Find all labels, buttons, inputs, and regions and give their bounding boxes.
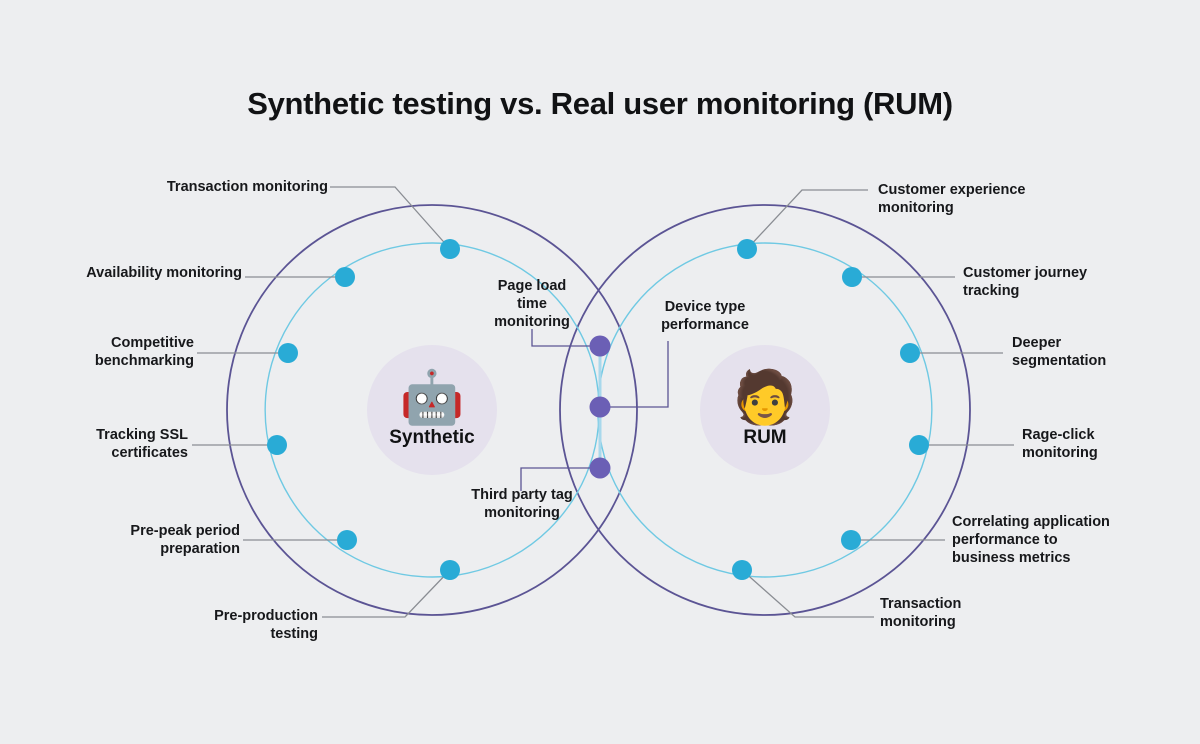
node-third-party-tag-monitoring[interactable] xyxy=(590,458,611,479)
label-deeper-segmentation[interactable]: Deeper segmentation xyxy=(1012,334,1184,370)
node-pre-production-testing[interactable] xyxy=(440,560,460,580)
node-transaction-monitoring[interactable] xyxy=(440,239,460,259)
synthetic-hub: 🤖 Synthetic xyxy=(367,345,497,475)
node-customer-experience-monitoring[interactable] xyxy=(737,239,757,259)
node-transaction-monitoring-rum[interactable] xyxy=(732,560,752,580)
label-device-type-performance[interactable]: Device type performance xyxy=(630,298,780,334)
page-title: Synthetic testing vs. Real user monitori… xyxy=(0,86,1200,122)
person-icon: 🧑 xyxy=(733,371,798,425)
node-deeper-segmentation[interactable] xyxy=(900,343,920,363)
label-page-load-time-monitoring[interactable]: Page load time monitoring xyxy=(462,277,602,331)
connector-transaction-monitoring xyxy=(330,187,450,249)
connector-page-load-time-monitoring xyxy=(532,329,598,346)
synthetic-hub-label: Synthetic xyxy=(389,427,475,449)
label-third-party-tag-monitoring[interactable]: Third party tag monitoring xyxy=(443,486,601,522)
label-transaction-monitoring[interactable]: Transaction monitoring xyxy=(40,178,328,196)
label-transaction-monitoring-rum[interactable]: Transaction monitoring xyxy=(880,595,1106,631)
node-pre-peak-period-preparation[interactable] xyxy=(337,530,357,550)
label-rage-click-monitoring[interactable]: Rage-click monitoring xyxy=(1022,426,1188,462)
node-competitive-benchmarking[interactable] xyxy=(278,343,298,363)
node-customer-journey-tracking[interactable] xyxy=(842,267,862,287)
connector-device-type-performance xyxy=(602,341,668,407)
label-pre-production-testing[interactable]: Pre-production testing xyxy=(20,607,318,643)
infographic-canvas: Synthetic testing vs. Real user monitori… xyxy=(0,0,1200,744)
label-tracking-ssl-certificates[interactable]: Tracking SSL certificates xyxy=(20,426,188,462)
node-page-load-time-monitoring[interactable] xyxy=(590,336,611,357)
rum-hub: 🧑 RUM xyxy=(700,345,830,475)
rum-hub-label: RUM xyxy=(743,427,786,449)
node-availability-monitoring[interactable] xyxy=(335,267,355,287)
label-competitive-benchmarking[interactable]: Competitive benchmarking xyxy=(20,334,194,370)
label-customer-experience-monitoring[interactable]: Customer experience monitoring xyxy=(878,181,1108,217)
label-pre-peak-period-preparation[interactable]: Pre-peak period preparation xyxy=(20,522,240,558)
label-correlating-application-performance[interactable]: Correlating application performance to b… xyxy=(952,513,1186,567)
node-correlating-application-performance[interactable] xyxy=(841,530,861,550)
robot-icon: 🤖 xyxy=(400,371,465,425)
connector-customer-experience-monitoring xyxy=(747,190,868,249)
label-availability-monitoring[interactable]: Availability monitoring xyxy=(20,264,242,282)
node-device-type-performance[interactable] xyxy=(590,397,611,418)
label-customer-journey-tracking[interactable]: Customer journey tracking xyxy=(963,264,1181,300)
node-rage-click-monitoring[interactable] xyxy=(909,435,929,455)
node-tracking-ssl-certificates[interactable] xyxy=(267,435,287,455)
